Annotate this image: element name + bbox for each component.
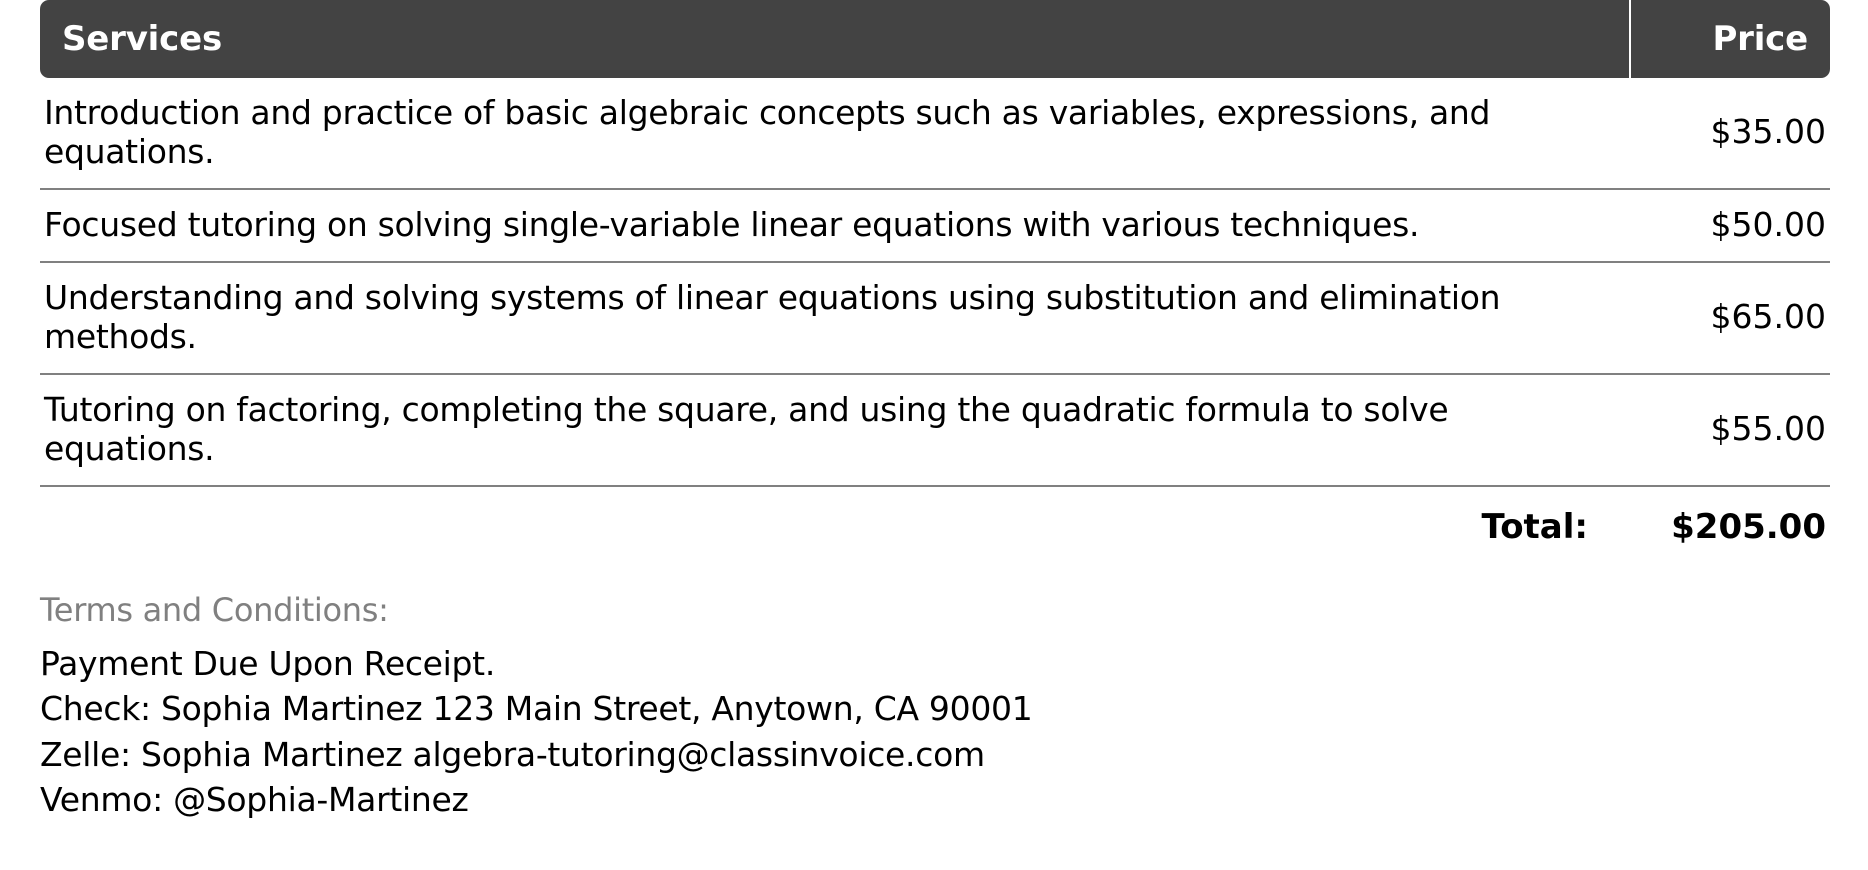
column-header-services: Services — [40, 0, 1630, 78]
terms-and-conditions-section: Terms and Conditions: Payment Due Upon R… — [40, 591, 1830, 823]
table-body: Introduction and practice of basic algeb… — [40, 78, 1830, 553]
services-price-table: Services Price Introduction and practice… — [40, 0, 1830, 553]
total-amount: $205.00 — [1630, 486, 1830, 553]
service-price: $55.00 — [1630, 374, 1830, 486]
invoice-page: Services Price Introduction and practice… — [0, 0, 1868, 870]
table-header: Services Price — [40, 0, 1830, 78]
terms-line-payment-due: Payment Due Upon Receipt. — [40, 641, 1830, 687]
service-price: $65.00 — [1630, 262, 1830, 374]
service-description: Introduction and practice of basic algeb… — [40, 78, 1630, 189]
table-header-row: Services Price — [40, 0, 1830, 78]
total-label: Total: — [40, 486, 1630, 553]
terms-line-check: Check: Sophia Martinez 123 Main Street, … — [40, 686, 1830, 732]
table-row: Introduction and practice of basic algeb… — [40, 78, 1830, 189]
terms-line-zelle: Zelle: Sophia Martinez algebra-tutoring@… — [40, 732, 1830, 778]
service-price: $50.00 — [1630, 189, 1830, 262]
service-description: Tutoring on factoring, completing the sq… — [40, 374, 1630, 486]
table-total-row: Total: $205.00 — [40, 486, 1830, 553]
terms-title: Terms and Conditions: — [40, 591, 1830, 629]
service-description: Focused tutoring on solving single-varia… — [40, 189, 1630, 262]
service-price: $35.00 — [1630, 78, 1830, 189]
service-description: Understanding and solving systems of lin… — [40, 262, 1630, 374]
terms-line-venmo: Venmo: @Sophia-Martinez — [40, 777, 1830, 823]
table-row: Tutoring on factoring, completing the sq… — [40, 374, 1830, 486]
table-row: Focused tutoring on solving single-varia… — [40, 189, 1830, 262]
column-header-price: Price — [1630, 0, 1830, 78]
table-row: Understanding and solving systems of lin… — [40, 262, 1830, 374]
